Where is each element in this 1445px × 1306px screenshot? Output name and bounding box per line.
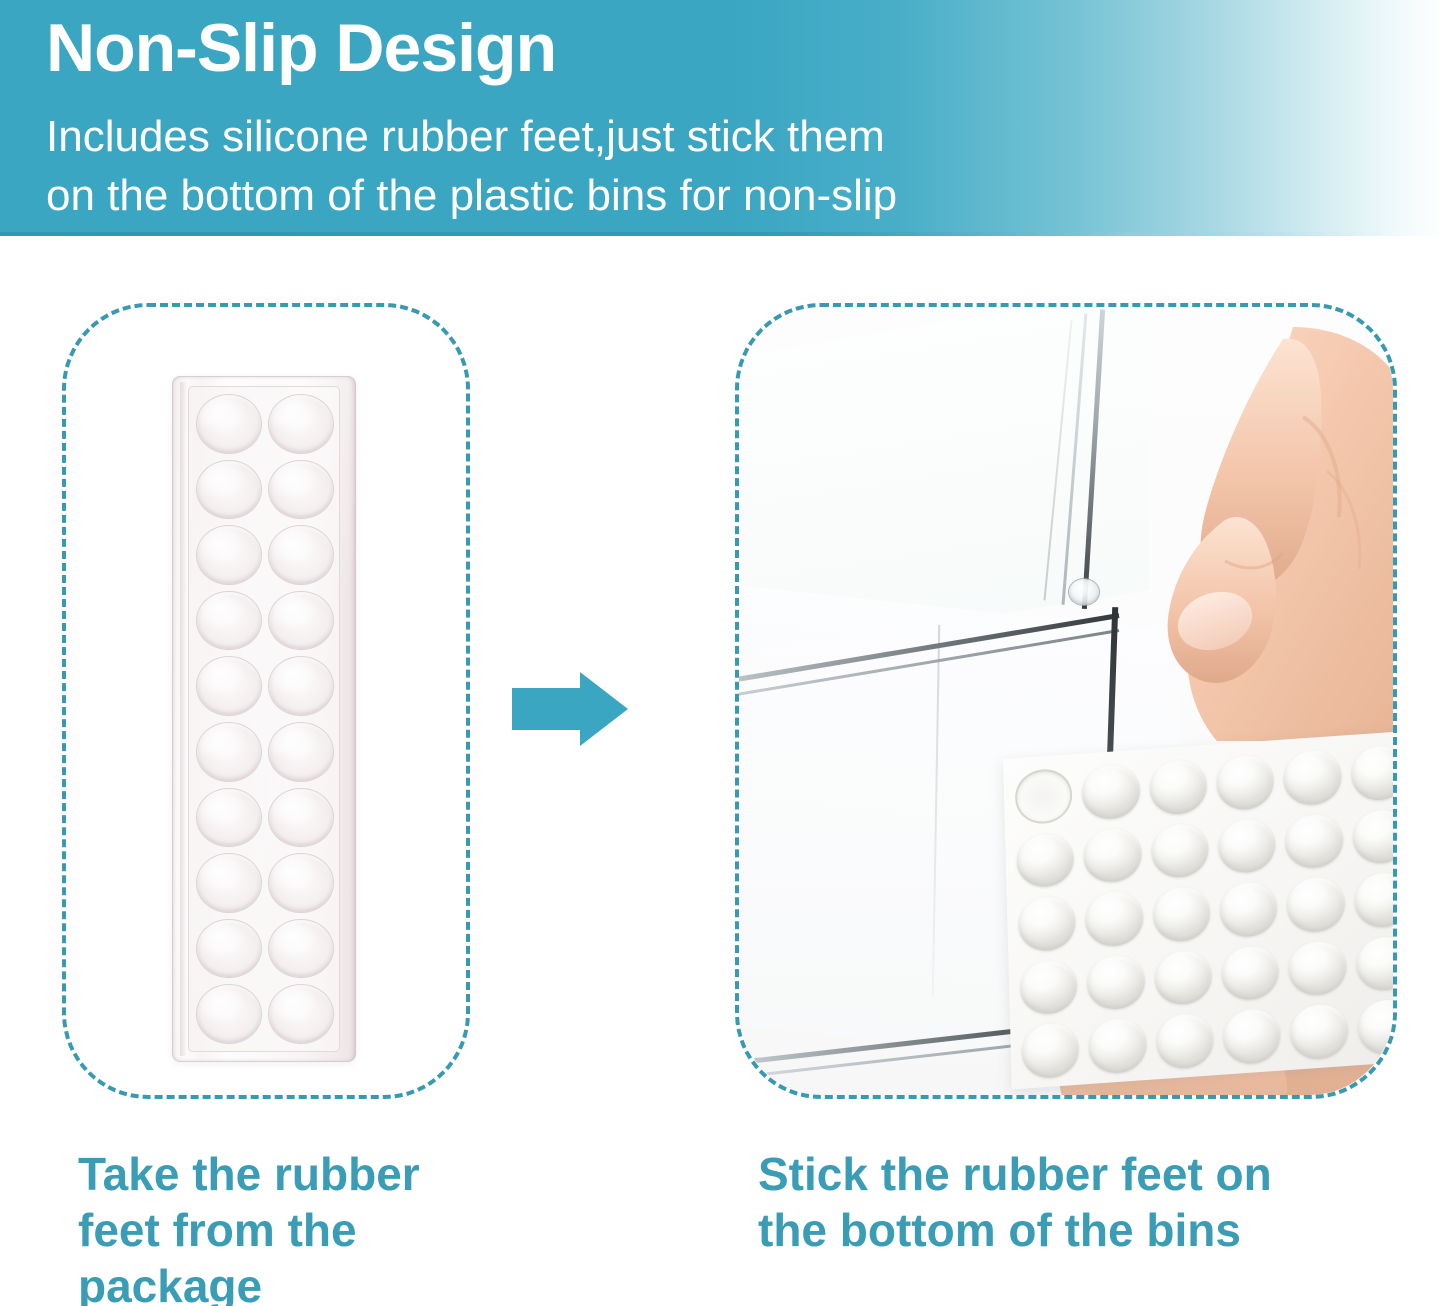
rubber-foot-white bbox=[1087, 954, 1146, 1012]
rubber-foot-white bbox=[1354, 871, 1393, 929]
rubber-foot-white bbox=[1219, 881, 1278, 939]
rubber-foot-clear bbox=[269, 723, 333, 781]
white-rubber-feet-grid bbox=[1009, 739, 1393, 1085]
step-1-caption: Take the rubber feet from the package bbox=[78, 1146, 508, 1306]
rubber-foot-white bbox=[1085, 890, 1144, 948]
rubber-foot-white bbox=[1285, 812, 1344, 870]
rubber-foot-clear bbox=[197, 723, 261, 781]
rubber-foot-white bbox=[1288, 940, 1347, 998]
rubber-foot-white bbox=[1355, 935, 1393, 993]
clear-rubber-feet-grid bbox=[194, 392, 336, 1046]
step-2-caption-line-2: the bottom of the bins bbox=[758, 1202, 1398, 1258]
step-2-caption-line-1: Stick the rubber feet on bbox=[758, 1146, 1398, 1202]
rubber-foot-white bbox=[1221, 944, 1280, 1002]
rubber-foot-white bbox=[1083, 826, 1142, 884]
rubber-foot-white bbox=[1018, 895, 1077, 953]
infographic-page: Non-Slip Design Includes silicone rubber… bbox=[0, 0, 1445, 1306]
rubber-foot-white bbox=[1150, 822, 1209, 880]
rubber-foot-white bbox=[1352, 808, 1393, 866]
rubber-foot-white bbox=[1016, 831, 1075, 889]
rubber-foot-white bbox=[1218, 817, 1277, 875]
rubber-foot-white bbox=[1088, 1017, 1147, 1075]
rubber-foot-clear bbox=[269, 461, 333, 519]
white-rubber-feet-sheet bbox=[1003, 731, 1393, 1090]
rubber-foot-clear bbox=[269, 395, 333, 453]
step-1-caption-line-3: package bbox=[78, 1258, 508, 1306]
rubber-foot-white bbox=[1082, 763, 1141, 821]
rubber-foot-clear bbox=[269, 985, 333, 1043]
step-1-caption-line-1: Take the rubber bbox=[78, 1146, 508, 1202]
rubber-foot-white bbox=[1223, 1008, 1282, 1066]
rubber-foot-clear bbox=[269, 920, 333, 978]
rubber-foot-clear bbox=[269, 789, 333, 847]
rubber-foot-white bbox=[1021, 1022, 1080, 1080]
rubber-foot-clear bbox=[197, 657, 261, 715]
rubber-foot-clear bbox=[197, 854, 261, 912]
header-subtitle: Includes silicone rubber feet,just stick… bbox=[46, 108, 897, 225]
rubber-foot-white bbox=[1019, 958, 1078, 1016]
page-title: Non-Slip Design bbox=[46, 14, 556, 82]
blister-pack-strip bbox=[172, 376, 356, 1062]
header-subtitle-line-2: on the bottom of the plastic bins for no… bbox=[46, 167, 897, 226]
header-subtitle-line-1: Includes silicone rubber feet,just stick… bbox=[46, 108, 897, 167]
rubber-foot-clear bbox=[269, 526, 333, 584]
rubber-foot-white bbox=[1216, 753, 1275, 811]
rubber-foot-white bbox=[1350, 744, 1393, 802]
header-band: Non-Slip Design Includes silicone rubber… bbox=[0, 0, 1445, 236]
rubber-foot-clear bbox=[197, 789, 261, 847]
rubber-foot-clear bbox=[197, 985, 261, 1043]
rubber-foot-white bbox=[1290, 1003, 1349, 1061]
rubber-foot-white bbox=[1283, 749, 1342, 807]
rubber-foot-clear bbox=[269, 657, 333, 715]
rubber-foot-white bbox=[1154, 949, 1213, 1007]
rubber-foot-clear bbox=[197, 461, 261, 519]
rubber-foot-white bbox=[1152, 885, 1211, 943]
step-1-caption-line-2: feet from the bbox=[78, 1202, 508, 1258]
rubber-foot-clear bbox=[269, 592, 333, 650]
rubber-foot-white bbox=[1357, 999, 1393, 1057]
rubber-foot-white bbox=[1149, 758, 1208, 816]
rubber-foot-clear bbox=[197, 395, 261, 453]
rubber-foot-white bbox=[1014, 767, 1073, 825]
rubber-foot-clear bbox=[269, 854, 333, 912]
rubber-foot-white bbox=[1155, 1013, 1214, 1071]
rubber-foot-clear bbox=[197, 526, 261, 584]
step-2-caption: Stick the rubber feet on the bottom of t… bbox=[758, 1146, 1398, 1258]
arrow-right-icon bbox=[512, 670, 628, 748]
rubber-foot-white bbox=[1286, 876, 1345, 934]
rubber-foot-clear bbox=[197, 920, 261, 978]
rubber-foot-clear bbox=[197, 592, 261, 650]
